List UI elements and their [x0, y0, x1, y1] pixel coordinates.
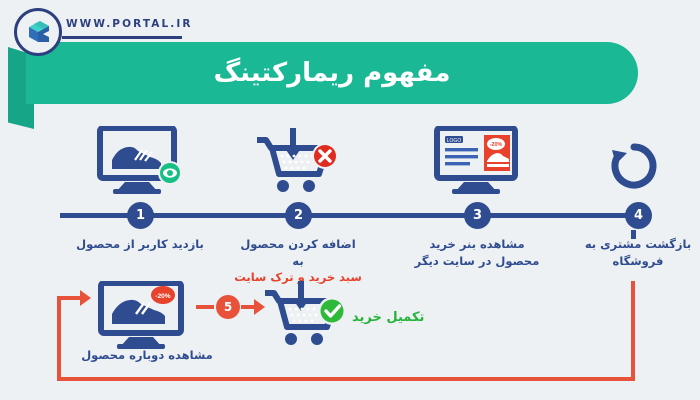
step5-node[interactable]: 5	[216, 295, 240, 319]
ad-logo-text: LOGO	[447, 138, 462, 144]
step-caption-1: بازدید کاربر از محصول	[75, 236, 205, 253]
infographic-canvas: WWW.PORTAL.IR مفهوم ریمارکتینگ	[0, 0, 700, 400]
monitor-shoe-eye-icon	[95, 126, 185, 198]
shopping-cart-abandon-icon	[255, 128, 341, 198]
timeline-node-4[interactable]: 4	[625, 202, 652, 229]
step-caption-4: بازگشت مشتری به فروشگاه	[573, 236, 700, 269]
step-caption-1-text: بازدید کاربر از محصول	[76, 237, 204, 251]
timeline-node-1[interactable]: 1	[127, 202, 154, 229]
shopping-cart-complete-icon	[263, 281, 351, 351]
portal-arrow-logo-icon	[14, 8, 62, 56]
checkout-label: تکمیل خرید	[352, 310, 424, 325]
loop-line-left	[57, 300, 61, 380]
loop-line-right	[631, 281, 635, 381]
step-caption-3: مشاهده بنر خرید محصول در سایت دیگر	[412, 236, 542, 269]
revisit-caption: مشاهده دوباره محصول	[62, 348, 232, 362]
step5-dash-left	[196, 305, 214, 309]
step-caption-2: اضافه کردن محصول به سبد خرید و ترک سایت	[233, 236, 363, 286]
timeline-node-2[interactable]: 2	[285, 202, 312, 229]
loop-arrow-icon	[80, 290, 91, 306]
return-loop-arrow-icon	[608, 140, 660, 196]
page-title: مفهوم ریمارکتینگ	[214, 58, 451, 88]
ad-discount-text: -20%	[490, 142, 503, 148]
site-url: WWW.PORTAL.IR	[66, 18, 193, 30]
monitor-shoe-discount-icon: -20%	[96, 281, 188, 353]
timeline-node-3[interactable]: 3	[464, 202, 491, 229]
step-caption-3-text: مشاهده بنر خرید محصول در سایت دیگر	[415, 237, 540, 268]
url-underline	[62, 36, 182, 39]
loop-line-bottom	[57, 377, 635, 381]
monitor-banner-ad-icon: LOGO -20%	[432, 126, 522, 198]
discount-badge-text: -20%	[155, 293, 170, 300]
step-caption-2-text: اضافه کردن محصول به	[240, 237, 355, 268]
title-ribbon: مفهوم ریمارکتینگ	[26, 42, 638, 104]
step-caption-4-text: بازگشت مشتری به فروشگاه	[585, 237, 691, 268]
